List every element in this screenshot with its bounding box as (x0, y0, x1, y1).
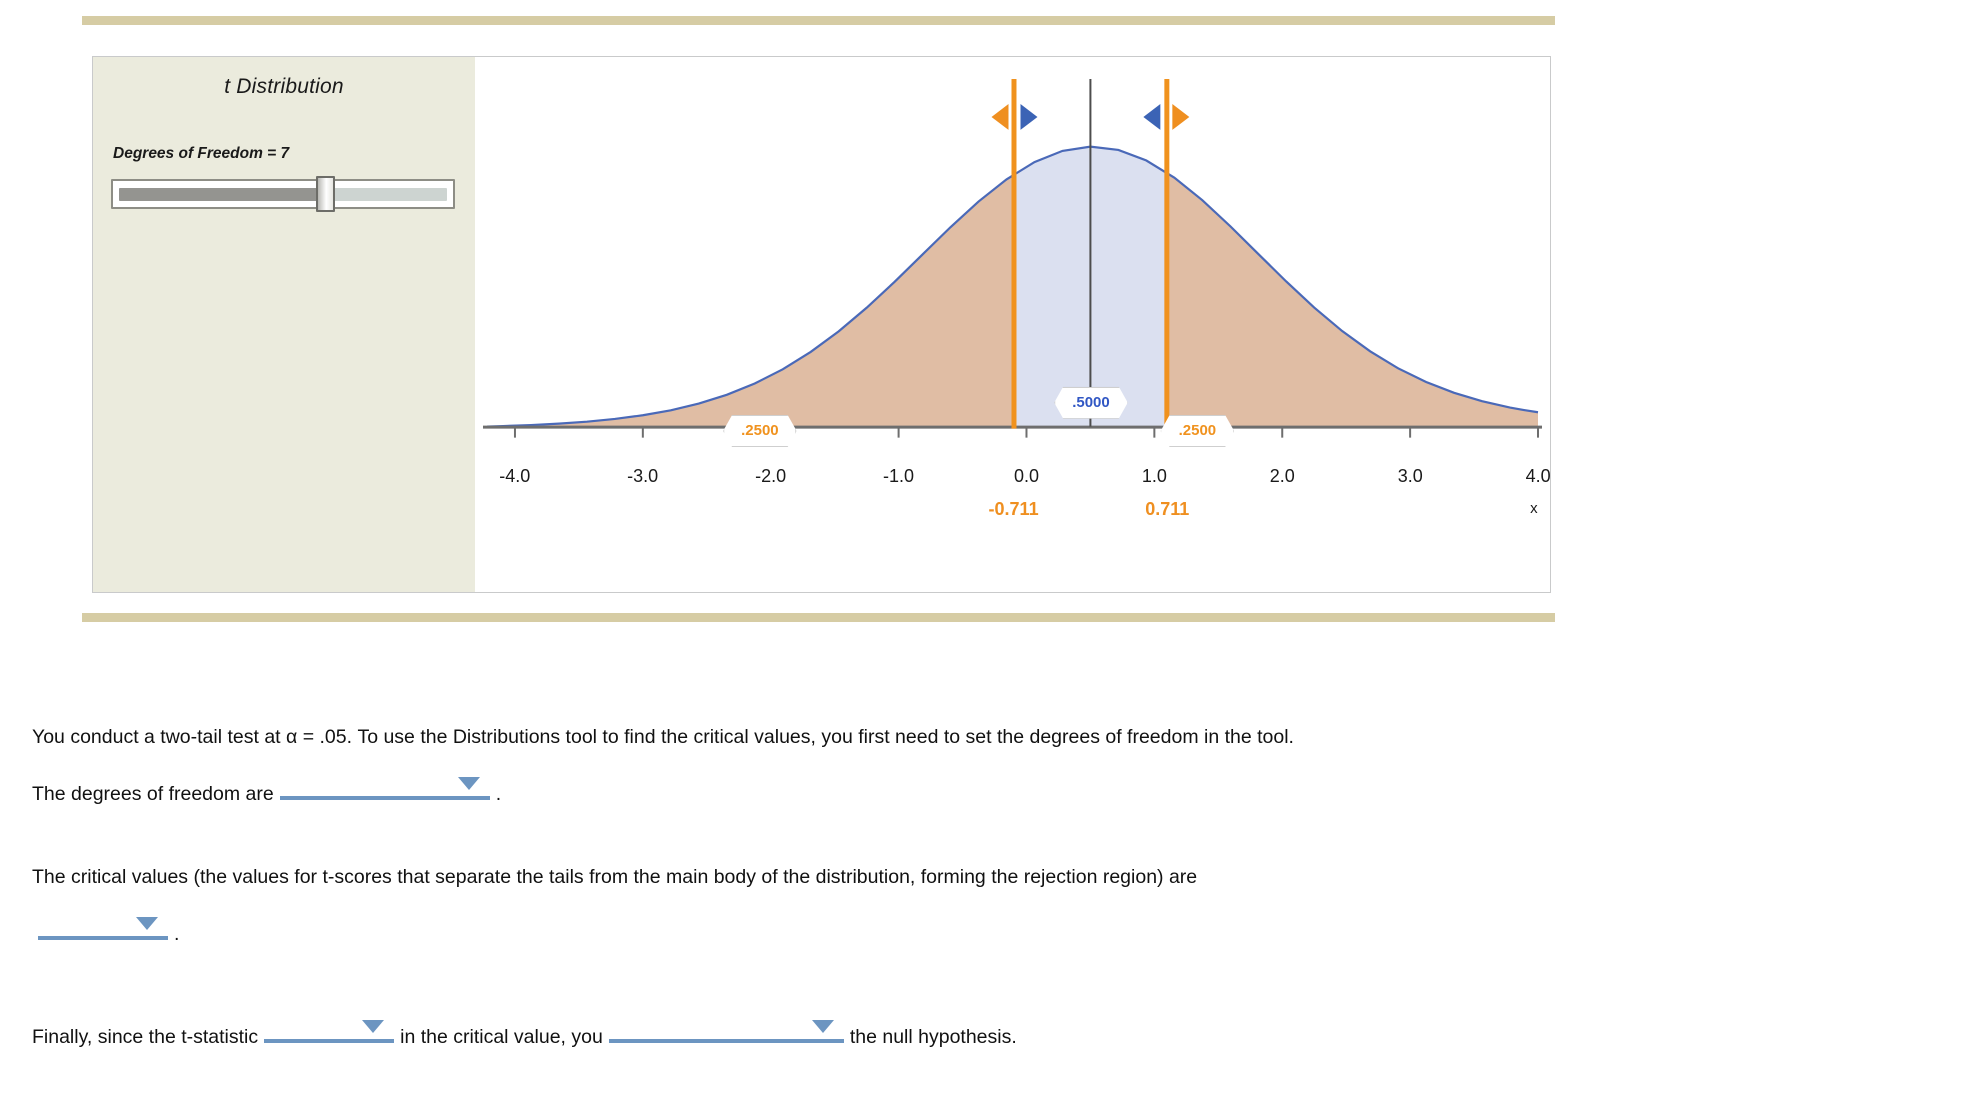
degrees-of-freedom-slider[interactable] (111, 179, 455, 209)
x-axis-label: x (1530, 500, 1538, 517)
x-tick-label--4.0: -4.0 (499, 466, 530, 487)
x-tick-label--1.0: -1.0 (883, 466, 914, 487)
t-statistic-comparison-dropdown[interactable] (264, 1013, 394, 1043)
question-paragraph-4: . (32, 910, 1912, 945)
question-text-2-suffix: . (496, 785, 501, 805)
tool-sidebar: t Distribution Degrees of Freedom = 7 (93, 57, 475, 592)
blue-right-triangle-icon[interactable] (1020, 104, 1037, 130)
x-tick-label-4.0: 4.0 (1526, 466, 1551, 487)
slider-fill (119, 188, 319, 201)
x-tick-label-0.0: 0.0 (1014, 466, 1039, 487)
distributions-tool-panel: t Distribution Degrees of Freedom = 7 (92, 56, 1551, 593)
decision-dropdown[interactable] (609, 1013, 844, 1043)
orange-left-triangle-icon[interactable] (992, 104, 1009, 130)
slider-track[interactable] (119, 188, 447, 201)
center-probability-badge[interactable]: .5000 (1054, 387, 1128, 419)
question-text-1: You conduct a two-tail test at α = .05. … (32, 726, 1294, 748)
bottom-divider-bar (82, 613, 1555, 622)
x-tick-label--2.0: -2.0 (755, 466, 786, 487)
question-text-4-suffix: . (174, 925, 179, 945)
top-divider-bar (82, 16, 1555, 25)
blue-left-triangle-icon[interactable] (1143, 104, 1160, 130)
question-paragraph-1: You conduct a two-tail test at α = .05. … (32, 728, 1912, 748)
page-title: t Distribution (93, 75, 475, 99)
x-axis-ticks (515, 428, 1538, 438)
degrees-of-freedom-dropdown[interactable] (280, 770, 490, 800)
distribution-chart: .2500 .5000 .2500 -4.0 -3.0 -2.0 -1.0 0.… (475, 57, 1550, 592)
chevron-down-icon (362, 1020, 384, 1033)
question-text-5-middle: in the critical value, you (400, 1028, 603, 1048)
question-paragraph-3: The critical values (the values for t-sc… (32, 868, 1912, 888)
chevron-down-icon (136, 917, 158, 930)
x-tick-label-3.0: 3.0 (1398, 466, 1423, 487)
question-text-5-prefix: Finally, since the t-statistic (32, 1028, 258, 1048)
right-critical-value-label: 0.711 (1145, 499, 1189, 520)
slider-thumb[interactable] (316, 176, 335, 212)
critical-values-dropdown[interactable] (38, 910, 168, 940)
question-paragraph-5: Finally, since the t-statistic in the cr… (32, 1013, 1912, 1048)
x-tick-label-2.0: 2.0 (1270, 466, 1295, 487)
question-text-2-prefix: The degrees of freedom are (32, 785, 274, 805)
chevron-down-icon (812, 1020, 834, 1033)
question-text-5-suffix: the null hypothesis. (850, 1028, 1017, 1048)
x-tick-label-1.0: 1.0 (1142, 466, 1167, 487)
chevron-down-icon (458, 777, 480, 790)
right-tail-probability-badge[interactable]: .2500 (1161, 415, 1235, 447)
x-tick-label--3.0: -3.0 (627, 466, 658, 487)
left-critical-value-label: -0.711 (989, 499, 1039, 520)
question-paragraph-2: The degrees of freedom are . (32, 770, 1912, 805)
left-tail-probability-badge[interactable]: .2500 (723, 415, 797, 447)
degrees-of-freedom-label: Degrees of Freedom = 7 (113, 145, 289, 163)
question-text-3: The critical values (the values for t-sc… (32, 866, 1197, 888)
orange-right-triangle-icon[interactable] (1172, 104, 1189, 130)
